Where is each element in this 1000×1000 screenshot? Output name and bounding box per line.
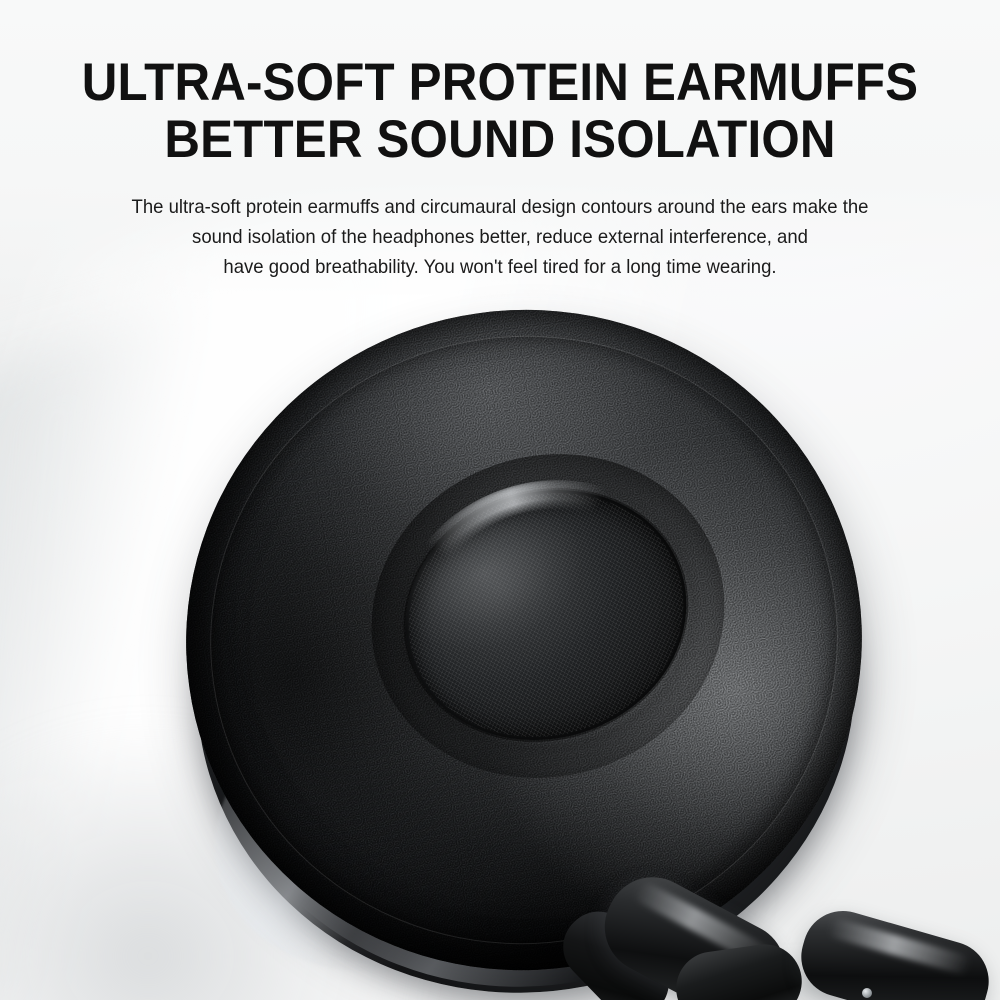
description-line-1: The ultra-soft protein earmuffs and circ…: [25, 192, 975, 222]
product-description: The ultra-soft protein earmuffs and circ…: [25, 168, 975, 282]
headline-line-2: BETTER SOUND ISOLATION: [35, 111, 965, 168]
description-line-2: sound isolation of the headphones better…: [25, 222, 975, 252]
copy-block: ULTRA-SOFT PROTEIN EARMUFFS BETTER SOUND…: [0, 0, 1000, 282]
product-feature-banner: ULTRA-SOFT PROTEIN EARMUFFS BETTER SOUND…: [0, 0, 1000, 1000]
headband-screw-icon: [862, 988, 872, 998]
description-line-3: have good breathability. You won't feel …: [25, 252, 975, 282]
headband-slider-cap: [792, 901, 998, 1000]
headband-slider-cap-gloss: [826, 917, 972, 976]
headline-line-1: ULTRA-SOFT PROTEIN EARMUFFS: [35, 54, 965, 111]
page-title: ULTRA-SOFT PROTEIN EARMUFFS BETTER SOUND…: [35, 0, 965, 168]
